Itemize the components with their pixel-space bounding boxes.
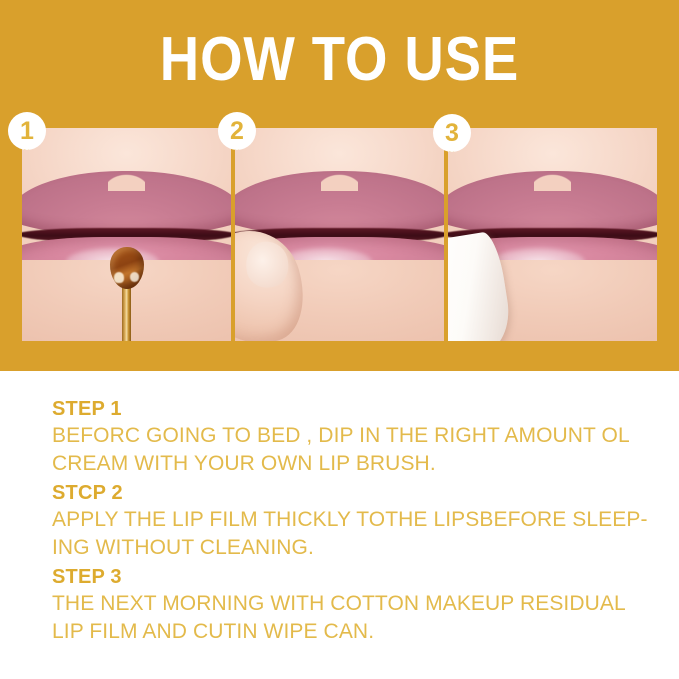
applicator-bead: [110, 247, 144, 289]
step-1-heading: STEP 1: [52, 396, 652, 422]
step-2-line-2: ING WITHOUT CLEANING.: [52, 534, 652, 562]
page-title: HOW TO USE: [41, 26, 639, 94]
step-2-line-1: APPLY THE LIP FILM THICKLY TOTHE LIPSBEF…: [52, 506, 652, 534]
step-3-heading: STEP 3: [52, 564, 652, 590]
step-3-line-1: THE NEXT MORNING WITH COTTON MAKEUP RESI…: [52, 590, 652, 618]
instruction-step-2: STCP 2 APPLY THE LIP FILM THICKLY TOTHE …: [52, 480, 652, 562]
upper-lip-shape: [22, 171, 231, 235]
step-photo-3: [448, 128, 657, 341]
photo-strip: [22, 128, 657, 341]
step-photo-1: [22, 128, 231, 341]
step-badge-3: 3: [433, 114, 471, 152]
step-badge-2: 2: [218, 112, 256, 150]
step-1-line-1: BEFORC GOING TO BED , DIP IN THE RIGHT A…: [52, 422, 652, 450]
step-3-line-2: LIP FILM AND CUTIN WIPE CAN.: [52, 618, 652, 646]
step-1-line-2: CREAM WITH YOUR OWN LIP BRUSH.: [52, 450, 652, 478]
step-badge-1: 1: [8, 112, 46, 150]
step-2-heading: STCP 2: [52, 480, 652, 506]
lip-applicator-icon: [110, 247, 144, 341]
step-photo-2: [235, 128, 444, 341]
instruction-step-1: STEP 1 BEFORC GOING TO BED , DIP IN THE …: [52, 396, 652, 478]
applicator-stick: [122, 286, 131, 341]
upper-lip-shape: [448, 171, 657, 235]
instruction-step-3: STEP 3 THE NEXT MORNING WITH COTTON MAKE…: [52, 564, 652, 646]
instructions-list: STEP 1 BEFORC GOING TO BED , DIP IN THE …: [52, 396, 652, 648]
upper-lip-shape: [235, 171, 444, 235]
